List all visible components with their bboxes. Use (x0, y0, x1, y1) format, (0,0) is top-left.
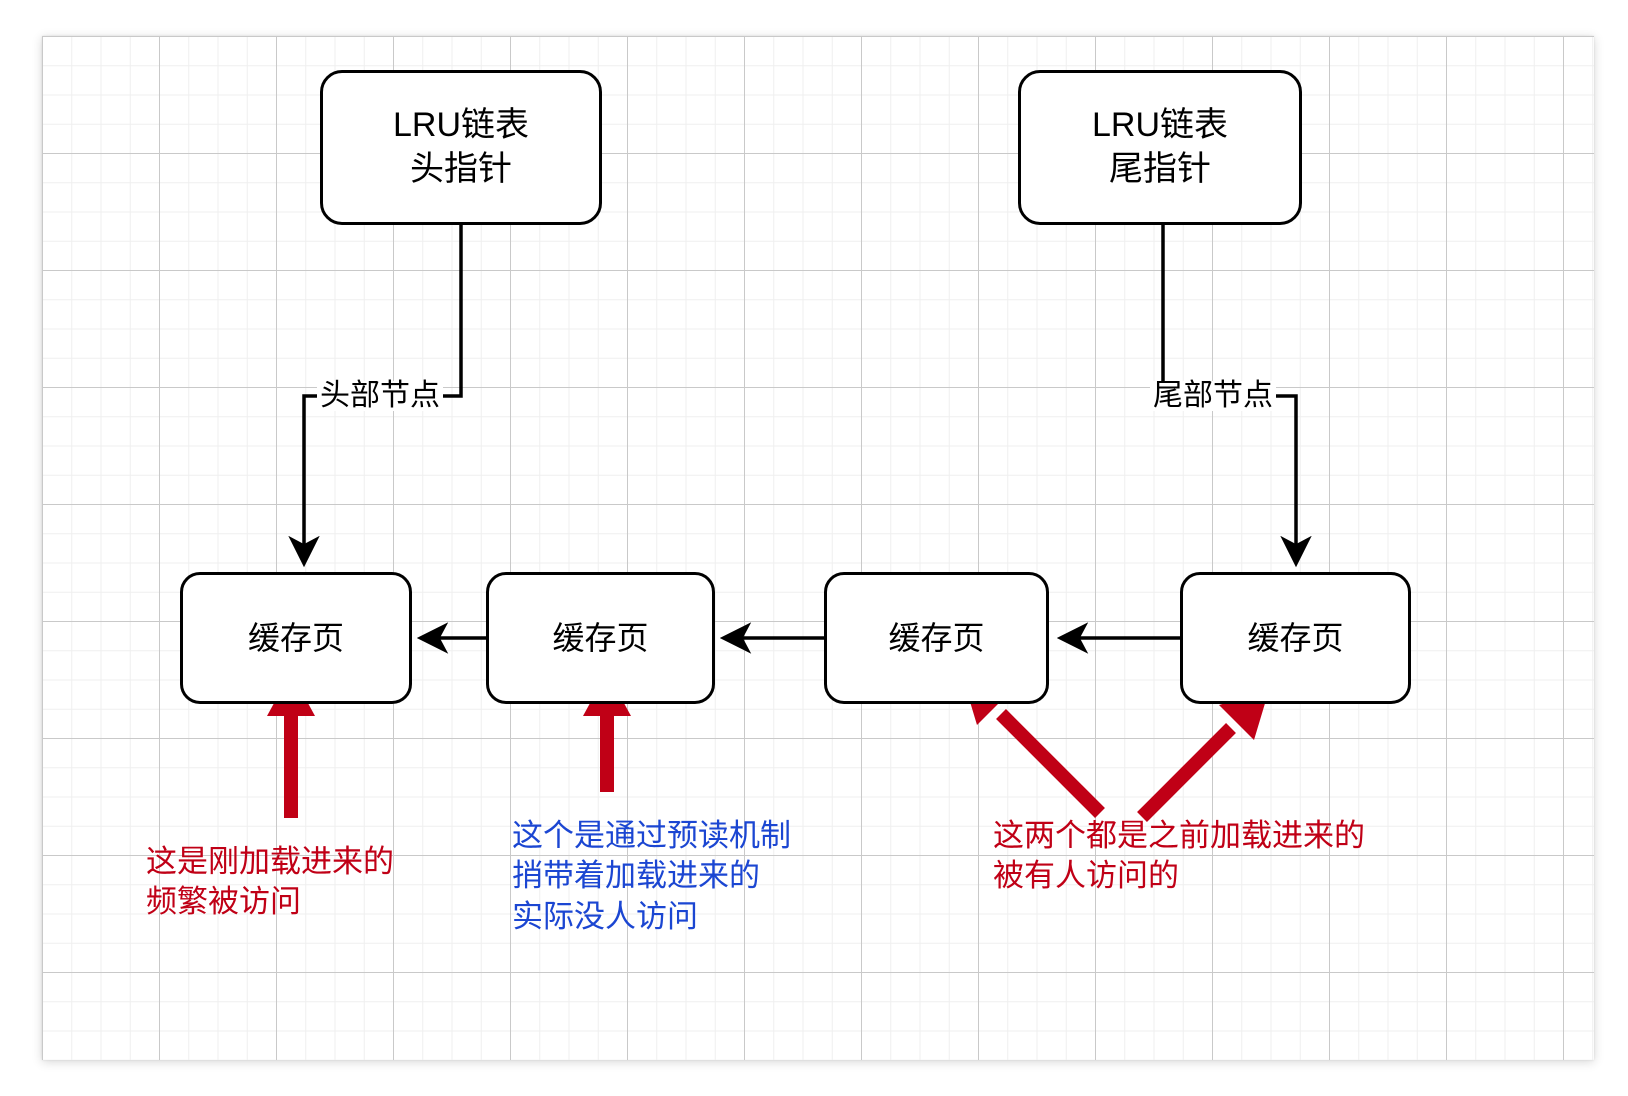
annotation-previously-loaded-line-1: 这两个都是之前加载进来的 (993, 816, 1365, 856)
annotation-newly-loaded-line-1: 这是刚加载进来的 (146, 842, 394, 882)
cache-page-label-1: 缓存页 (248, 618, 344, 659)
cache-page-box-2[interactable]: 缓存页 (486, 572, 715, 704)
tail-pointer-box[interactable]: LRU链表 尾指针 (1018, 70, 1302, 225)
tail-node-label: 尾部节点 (1150, 381, 1276, 411)
head-pointer-line1: LRU链表 (393, 104, 529, 148)
annotation-readahead-line-3: 实际没人访问 (512, 897, 791, 937)
annotation-readahead-line-2: 捎带着加载进来的 (512, 856, 791, 896)
annotation-previously-loaded: 这两个都是之前加载进来的 被有人访问的 (993, 816, 1365, 897)
cache-page-box-1[interactable]: 缓存页 (180, 572, 412, 704)
head-pointer-line2: 头指针 (393, 148, 529, 192)
annotation-previously-loaded-line-2: 被有人访问的 (993, 856, 1365, 896)
cache-page-box-3[interactable]: 缓存页 (824, 572, 1049, 704)
red-arrow-to-page4 (1142, 690, 1269, 817)
connector-layer (0, 0, 1628, 1096)
diagram-stage: LRU链表 头指针 LRU链表 尾指针 头部节点 尾部节点 缓存页 缓存页 缓存… (0, 0, 1628, 1096)
annotation-readahead-line-1: 这个是通过预读机制 (512, 816, 791, 856)
tail-pointer-line2: 尾指针 (1092, 148, 1228, 192)
tail-pointer-line1: LRU链表 (1092, 104, 1228, 148)
cache-page-box-4[interactable]: 缓存页 (1180, 572, 1411, 704)
cache-page-label-2: 缓存页 (552, 618, 648, 659)
head-pointer-box[interactable]: LRU链表 头指针 (320, 70, 602, 225)
annotation-newly-loaded-line-2: 频繁被访问 (146, 882, 394, 922)
cache-page-label-4: 缓存页 (1247, 618, 1343, 659)
annotation-readahead: 这个是通过预读机制 捎带着加载进来的 实际没人访问 (512, 816, 791, 937)
annotation-newly-loaded: 这是刚加载进来的 频繁被访问 (146, 842, 394, 923)
cache-page-label-3: 缓存页 (888, 618, 984, 659)
head-node-label: 头部节点 (317, 381, 443, 411)
